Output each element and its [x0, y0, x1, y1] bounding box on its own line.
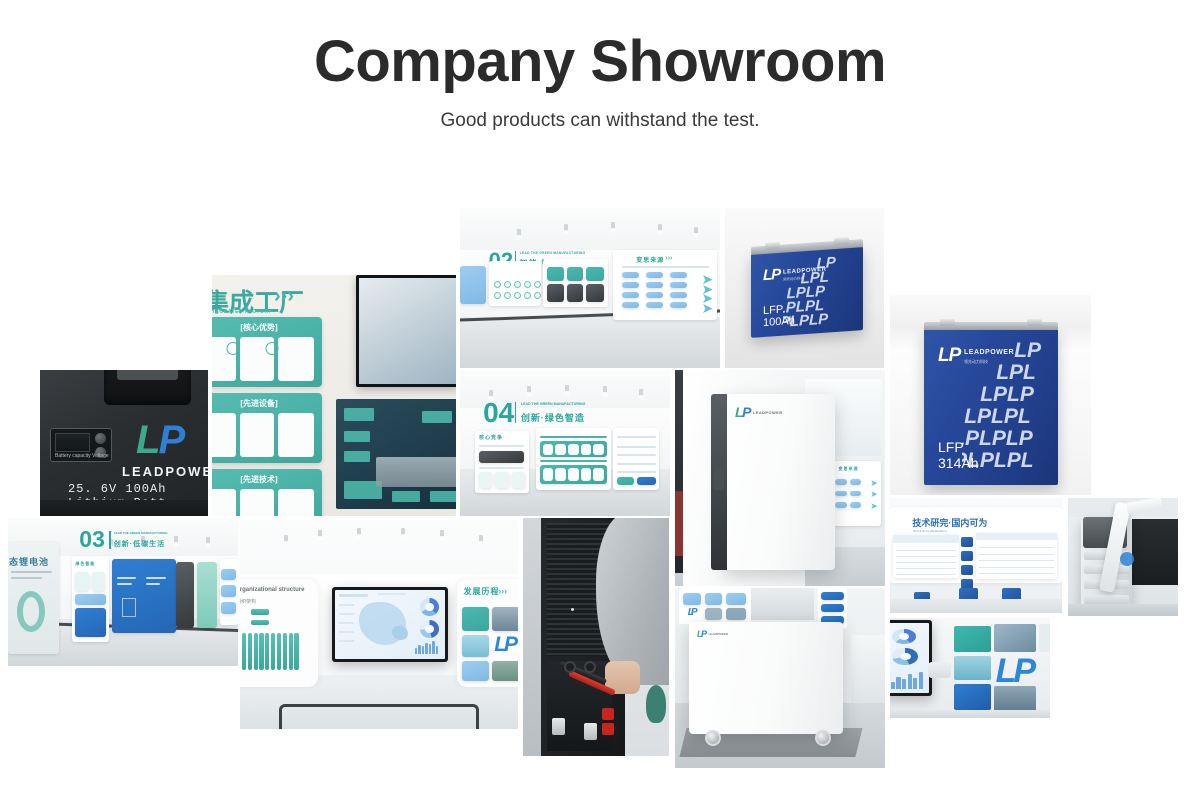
poster-card-core-advantage: [核心优势]	[212, 317, 322, 387]
rolling-cabinet-photo: LP LP LEADPOWER	[675, 588, 885, 768]
showroom-04-photo: 04 LEAD THE GREEN MANUFACTURING 创新·绿色智造 …	[460, 370, 670, 516]
gallery-item-rolling-ess-cabinet[interactable]: LP LP LEADPOWER	[675, 588, 885, 768]
blue-display-screen	[112, 559, 176, 633]
gallery-item-showroom-section-02[interactable]: 02 LEAD THE GREEN MANUFACTURING 智能·智造	[460, 208, 720, 368]
org-chart-label: organizational structure	[240, 587, 304, 593]
wall-card-edge	[1039, 624, 1050, 652]
caster-wheel	[815, 730, 831, 746]
section-number-04: 04	[483, 399, 514, 427]
spec-wall-title: 技术研完·国内可为	[912, 516, 987, 529]
gallery-item-black-battery-pack[interactable]: Battery capacity Voltage LP LEADPOWER 25…	[40, 370, 208, 516]
lp-brand-wall-photo: LP	[890, 618, 1050, 718]
caster-wheel	[705, 730, 721, 746]
prismatic-cell-body: LP LPL LPLP LPLPL LPLPLP LP LEADPOWER 领先…	[751, 246, 863, 338]
battery-lcd-meter: Battery capacity Voltage	[50, 428, 112, 462]
lfp-100ah-photo: LP LPL LPLP LPLPL LPLPLP LP LEADPOWER 领先…	[725, 208, 884, 368]
showroom-02-photo: 02 LEAD THE GREEN MANUFACTURING 智能·智造	[460, 208, 720, 368]
poster-card-advanced-technology: [先进技术]	[212, 469, 322, 516]
poster-heading-en: INTEGRATED FACTORY	[212, 309, 272, 315]
brand-wordmark: LEADPOWER	[122, 464, 208, 479]
gallery-item-technical-spec-wall[interactable]: 技术研完·国内可为 TECHNICAL RESEARCH	[890, 498, 1062, 613]
org-chart-wall: organizational structure 组织架构	[240, 579, 318, 688]
gallery-item-lfp-cell-314ah[interactable]: LP LPL LPLP LPLPL LPLPLP LPLPLPL LP LEAD…	[890, 295, 1091, 495]
org-structure-photo: organizational structure 组织架构	[240, 520, 518, 729]
cell-capacity-label: 314Ah	[938, 455, 978, 472]
lp-logo-glyph: LP	[136, 418, 183, 463]
gallery-item-wall-mounted-ess-cabinet[interactable]: 变思来源 ➤ ➤ ➤	[675, 370, 885, 586]
poster-card-advanced-equipment: [先进设备]	[212, 393, 322, 463]
side-dashboard-screen	[890, 620, 932, 696]
spec-table-right	[976, 533, 1057, 579]
wall-card-photo	[954, 656, 991, 680]
black-battery-photo: Battery capacity Voltage LP LEADPOWER 25…	[40, 370, 208, 516]
gallery-item-lfp-cell-100ah[interactable]: LP LPL LPLP LPLPL LPLPLP LP LEADPOWER 领先…	[725, 208, 884, 368]
prismatic-cell-body: LP LPL LPLP LPLPL LPLPLP LPLPLPL LP LEAD…	[924, 329, 1058, 485]
gallery-item-lp-brand-wall[interactable]: LP	[890, 618, 1050, 718]
rolling-cabinet-body: LP LEADPOWER	[689, 622, 843, 734]
spec-wall-photo: 技术研完·国内可为 TECHNICAL RESEARCH	[890, 498, 1062, 613]
equipment-logo-badge	[1120, 552, 1134, 566]
factory-poster-photo: 集成工厂 ››› INTEGRATED FACTORY [核心优势] [先进设备…	[212, 275, 456, 516]
gallery-item-organizational-structure-hall[interactable]: organizational structure 组织架构	[240, 520, 518, 729]
dashboard-screen	[332, 587, 449, 662]
banner-board: 态锂电池	[8, 542, 59, 654]
lp-logo-glyph: LP	[938, 345, 960, 367]
lp-logo-glyph: LP	[763, 266, 780, 284]
cell-chem-label: LFP	[938, 439, 964, 456]
wall-monitor	[356, 275, 456, 387]
gallery-item-technician-battery-rack[interactable]	[523, 518, 669, 756]
cell-capacity-label: 100Ah	[763, 315, 795, 330]
cabinet-brand-logo: LP LEADPOWER	[697, 629, 728, 639]
gallery-item-showroom-section-03[interactable]: 态锂电池 03 LEAD THE GREEN MANUFACTURING 创新·…	[8, 518, 238, 666]
section-number-03: 03	[79, 528, 105, 551]
showroom-03-photo: 态锂电池 03 LEAD THE GREEN MANUFACTURING 创新·…	[8, 518, 238, 666]
section-04-en: LEAD THE GREEN MANUFACTURING	[521, 402, 586, 406]
spec-table-left	[893, 535, 958, 579]
lfp-314ah-photo: LP LPL LPLP LPLPL LPLPLP LPLPLPL LP LEAD…	[890, 295, 1091, 495]
equipment-photo	[1068, 498, 1178, 616]
factory-map-board	[336, 399, 456, 509]
gallery-item-showroom-section-04[interactable]: 04 LEAD THE GREEN MANUFACTURING 创新·绿色智造 …	[460, 370, 670, 516]
wall-card-photo	[994, 624, 1036, 652]
wall-card-blue	[954, 684, 991, 710]
lcd-caption: Battery capacity Voltage	[55, 453, 109, 459]
cabinet-brand-logo: LP LEADPOWER	[735, 404, 783, 420]
brand-wordmark: LEADPOWER	[964, 349, 1014, 356]
gallery-item-integrated-factory-poster-wall[interactable]: 集成工厂 ››› INTEGRATED FACTORY [核心优势] [先进设备…	[212, 275, 456, 516]
page-root: Company Showroom Good products can withs…	[0, 0, 1200, 798]
gallery-item-industrial-equipment-unit[interactable]	[1068, 498, 1178, 616]
wall-card-photo	[994, 686, 1036, 712]
history-wall: 发展历程 ››› LP	[457, 579, 518, 688]
wall-card-teal	[954, 626, 991, 652]
ess-cabinet-body: LP LEADPOWER	[723, 394, 835, 570]
technician-photo	[523, 518, 669, 756]
cabinet-brand-wordmark: LEADPOWER	[753, 410, 783, 415]
section-02-en: LEAD THE GREEN MANUFACTURING	[520, 251, 586, 255]
company-showroom-gallery: Battery capacity Voltage LP LEADPOWER 25…	[0, 0, 1200, 798]
ess-cabinet-photo: 变思来源 ➤ ➤ ➤	[675, 370, 885, 586]
section-03-en: LEAD THE GREEN MANUFACTURING	[114, 531, 168, 535]
